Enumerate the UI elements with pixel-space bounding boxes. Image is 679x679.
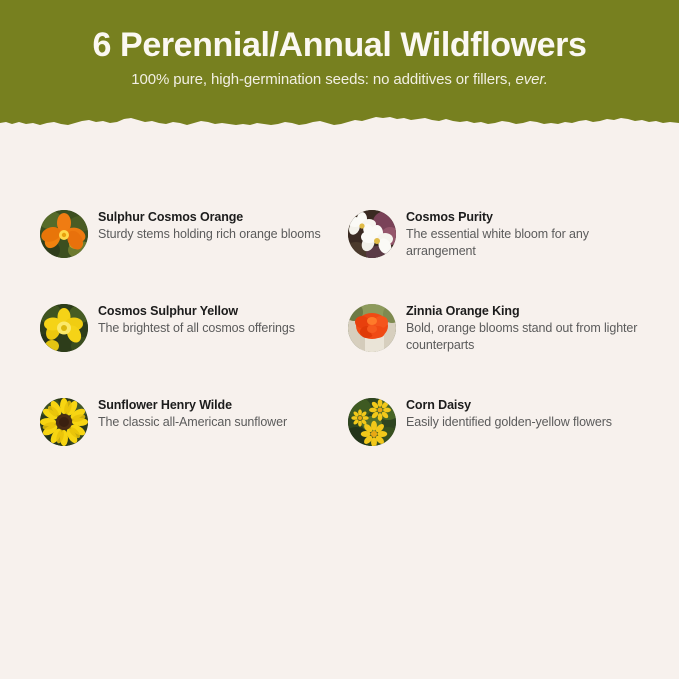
header-banner: 6 Perennial/Annual Wildflowers 100% pure… xyxy=(0,0,679,134)
flower-thumbnail-orange-cosmos-icon xyxy=(40,210,88,258)
item-text-block: Cosmos Sulphur Yellow The brightest of a… xyxy=(98,290,295,337)
wildflower-items-grid: Sulphur Cosmos Orange Sturdy stems holdi… xyxy=(0,196,679,478)
list-item: Zinnia Orange King Bold, orange blooms s… xyxy=(348,290,656,384)
item-text-block: Zinnia Orange King Bold, orange blooms s… xyxy=(406,290,644,354)
flower-thumbnail-sunflower-icon xyxy=(40,398,88,446)
item-description: The brightest of all cosmos offerings xyxy=(98,320,295,337)
item-description: The classic all-American sunflower xyxy=(98,414,287,431)
torn-paper-edge xyxy=(0,112,679,134)
item-title: Zinnia Orange King xyxy=(406,303,644,319)
item-title: Corn Daisy xyxy=(406,397,612,413)
item-text-block: Sulphur Cosmos Orange Sturdy stems holdi… xyxy=(98,196,321,243)
flower-thumbnail-yellow-cosmos-icon xyxy=(40,304,88,352)
page-subtitle: 100% pure, high-germination seeds: no ad… xyxy=(0,65,679,90)
item-text-block: Corn Daisy Easily identified golden-yell… xyxy=(406,384,612,431)
item-text-block: Sunflower Henry Wilde The classic all-Am… xyxy=(98,384,287,431)
item-title: Cosmos Purity xyxy=(406,209,644,225)
item-title: Sulphur Cosmos Orange xyxy=(98,209,321,225)
page-title: 6 Perennial/Annual Wildflowers xyxy=(0,0,679,65)
item-title: Sunflower Henry Wilde xyxy=(98,397,287,413)
item-text-block: Cosmos Purity The essential white bloom … xyxy=(406,196,644,260)
list-item: Cosmos Purity The essential white bloom … xyxy=(348,196,656,290)
list-item: Cosmos Sulphur Yellow The brightest of a… xyxy=(40,290,348,384)
list-item: Sunflower Henry Wilde The classic all-Am… xyxy=(40,384,348,478)
subtitle-emphasis-text: ever. xyxy=(515,71,547,88)
list-item: Corn Daisy Easily identified golden-yell… xyxy=(348,384,656,478)
list-item: Sulphur Cosmos Orange Sturdy stems holdi… xyxy=(40,196,348,290)
subtitle-main-text: 100% pure, high-germination seeds: no ad… xyxy=(131,71,511,88)
item-description: Bold, orange blooms stand out from light… xyxy=(406,320,644,354)
flower-thumbnail-white-cosmos-icon xyxy=(348,210,396,258)
flower-thumbnail-corn-daisy-icon xyxy=(348,398,396,446)
item-description: Easily identified golden-yellow flowers xyxy=(406,414,612,431)
flower-thumbnail-orange-zinnia-icon xyxy=(348,304,396,352)
item-description: The essential white bloom for any arrang… xyxy=(406,226,644,260)
item-description: Sturdy stems holding rich orange blooms xyxy=(98,226,321,243)
item-title: Cosmos Sulphur Yellow xyxy=(98,303,295,319)
header-content: 6 Perennial/Annual Wildflowers 100% pure… xyxy=(0,0,679,90)
